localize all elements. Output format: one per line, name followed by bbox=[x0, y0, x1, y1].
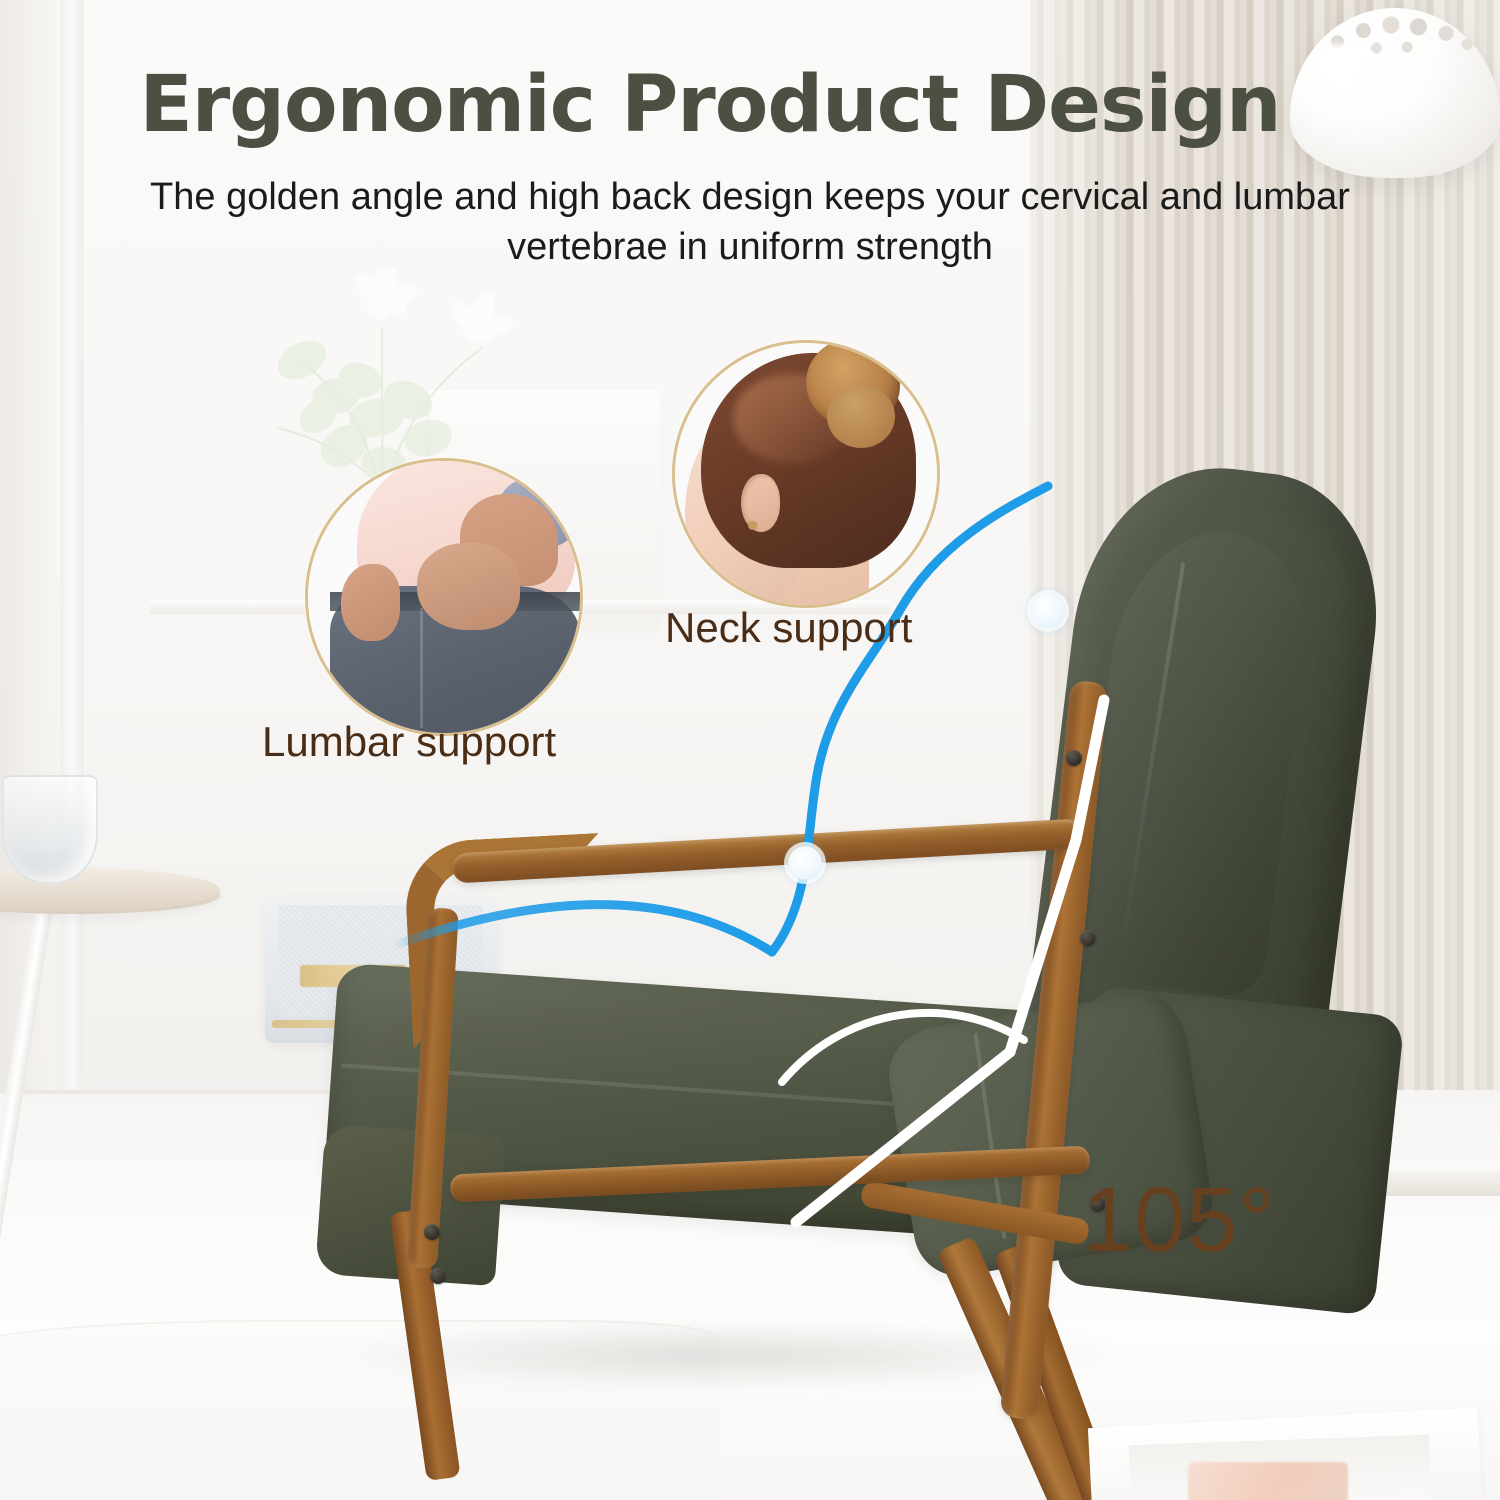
neck-inset-ear bbox=[741, 474, 780, 532]
page-subtitle: The golden angle and high back design ke… bbox=[70, 172, 1430, 272]
lumbar-inset-right-hand bbox=[417, 543, 520, 630]
neck-inset-hair-bun-lower bbox=[827, 385, 895, 448]
lumbar-inset-left-hand bbox=[341, 564, 401, 640]
chair-bolt-front-lower bbox=[430, 1268, 446, 1284]
callout-label-lumbar: Lumbar support bbox=[262, 718, 556, 766]
chair-bolt-back-upper bbox=[1066, 750, 1082, 766]
page-title: Ergonomic Product Design bbox=[0, 60, 1420, 150]
wall-panel-left-inner bbox=[60, 0, 84, 1090]
curve-marker-lumbar bbox=[788, 846, 822, 880]
floor-magazine-photo bbox=[1188, 1462, 1348, 1500]
chair-armrest bbox=[452, 818, 1083, 883]
drinking-glass bbox=[2, 775, 98, 884]
neck-inset bbox=[672, 340, 940, 608]
lumbar-inset-trouser-seam bbox=[420, 608, 423, 728]
callout-label-neck: Neck support bbox=[665, 604, 912, 652]
curve-marker-neck bbox=[1031, 594, 1065, 628]
product-feature-image: Ergonomic Product Design The golden angl… bbox=[0, 0, 1500, 1500]
angle-value-label: 105° bbox=[1082, 1168, 1276, 1273]
chair-bolt-front-upper bbox=[424, 1224, 440, 1240]
chair-bolt-back-mid bbox=[1080, 930, 1096, 946]
lumbar-inset bbox=[305, 458, 583, 736]
